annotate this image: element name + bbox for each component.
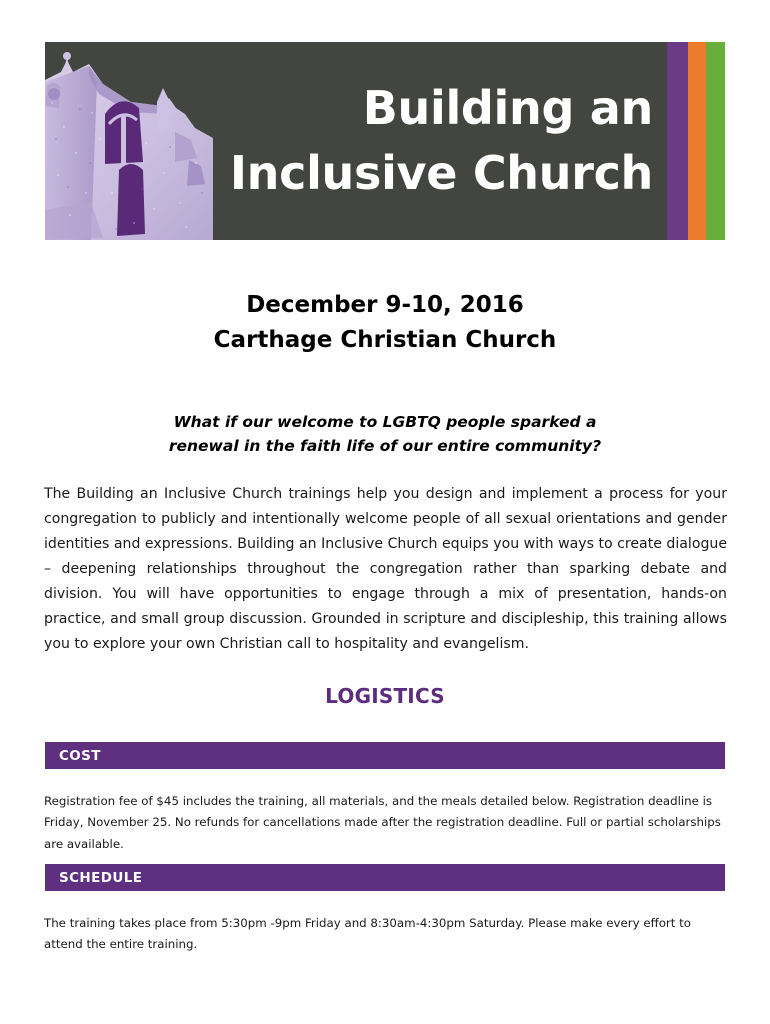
flyer-page: Building an Inclusive Church December 9-… (0, 0, 770, 1024)
section-bar-cost: COST (45, 742, 725, 769)
header-banner: Building an Inclusive Church (45, 42, 725, 240)
section-label-cost: COST (45, 748, 101, 764)
banner-title-line-2: Inclusive Church (230, 141, 653, 206)
section-label-schedule: SCHEDULE (45, 870, 142, 886)
section-body-cost: Registration fee of $45 includes the tra… (44, 791, 727, 855)
event-date: December 9-10, 2016 (45, 288, 725, 323)
intro-paragraph: The Building an Inclusive Church trainin… (44, 482, 727, 658)
event-venue: Carthage Christian Church (45, 323, 725, 358)
accent-bar-purple (667, 42, 688, 240)
logistics-heading: LOGISTICS (45, 684, 725, 708)
tagline-line-1: What if our welcome to LGBTQ people spar… (105, 410, 665, 434)
accent-bar-orange (688, 42, 706, 240)
tagline-line-2: renewal in the faith life of our entire … (105, 434, 665, 458)
accent-bar-green (706, 42, 725, 240)
section-body-schedule: The training takes place from 5:30pm -9p… (44, 913, 727, 956)
banner-main-panel: Building an Inclusive Church (45, 42, 667, 240)
event-heading: December 9-10, 2016 Carthage Christian C… (45, 288, 725, 358)
section-bar-schedule: SCHEDULE (45, 864, 725, 891)
church-tower-photo (45, 42, 213, 240)
banner-title-line-1: Building an (363, 76, 653, 141)
banner-title: Building an Inclusive Church (230, 42, 653, 240)
tagline: What if our welcome to LGBTQ people spar… (105, 410, 665, 458)
